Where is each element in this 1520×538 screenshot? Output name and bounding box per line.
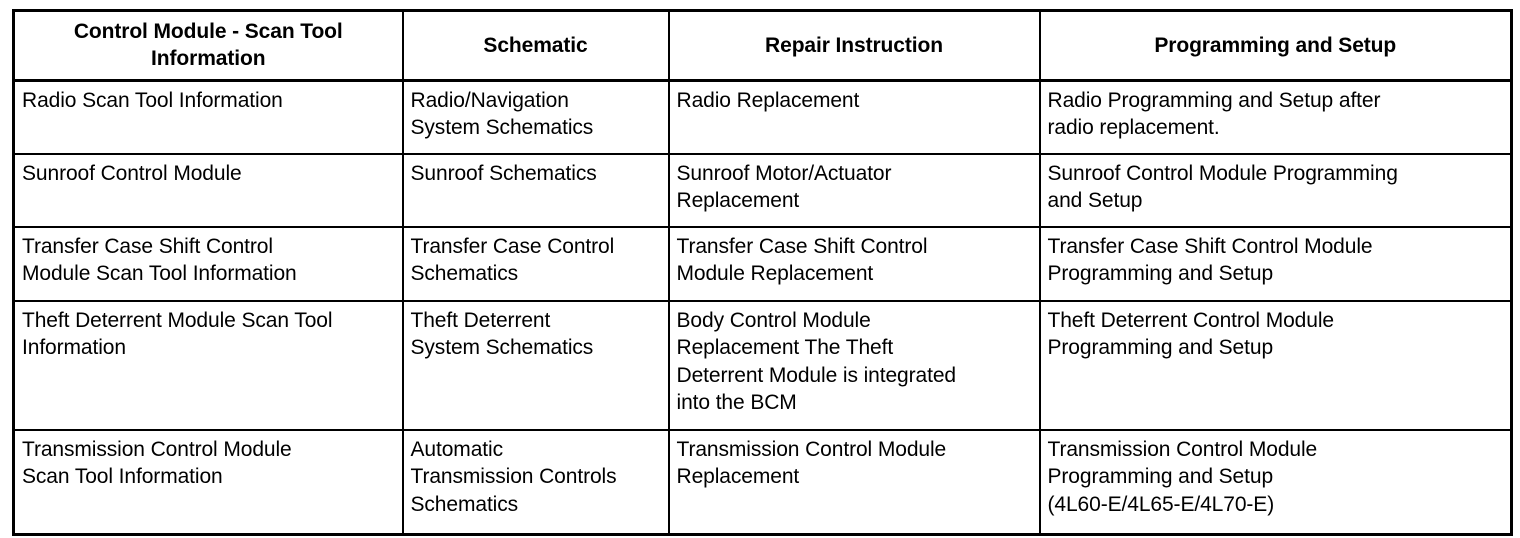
- column-header-scan-tool-information: Control Module - Scan Tool Information: [14, 11, 403, 81]
- cell-text: Theft Deterrent System Schematics: [411, 307, 661, 362]
- cell-text: Radio Replacement: [677, 87, 1032, 114]
- cell-text: Transfer Case Shift Control Module Scan …: [22, 233, 395, 288]
- cell-text: Theft Deterrent Control Module Programmi…: [1048, 307, 1504, 362]
- cell-text: Transfer Case Shift Control Module Progr…: [1048, 233, 1504, 288]
- table-header-row: Control Module - Scan Tool Information S…: [14, 11, 1512, 81]
- cell-text: Transfer Case Shift Control Module Repla…: [677, 233, 1032, 288]
- cell-schematic: Sunroof Schematics: [403, 154, 669, 227]
- cell-scan-tool-information: Sunroof Control Module: [14, 154, 403, 227]
- cell-programming-and-setup: Theft Deterrent Control Module Programmi…: [1040, 301, 1512, 430]
- cell-scan-tool-information: Transmission Control Module Scan Tool In…: [14, 430, 403, 534]
- cell-scan-tool-information: Theft Deterrent Module Scan Tool Informa…: [14, 301, 403, 430]
- table-row: Theft Deterrent Module Scan Tool Informa…: [14, 301, 1512, 430]
- cell-text: Theft Deterrent Module Scan Tool Informa…: [22, 307, 395, 362]
- cell-repair-instruction: Transfer Case Shift Control Module Repla…: [669, 227, 1040, 301]
- table-row: Radio Scan Tool Information Radio/Naviga…: [14, 80, 1512, 154]
- cell-text: Radio/Navigation System Schematics: [411, 87, 661, 142]
- cell-text: Sunroof Schematics: [411, 160, 661, 187]
- column-header-programming-and-setup: Programming and Setup: [1040, 11, 1512, 81]
- cell-scan-tool-information: Radio Scan Tool Information: [14, 80, 403, 154]
- cell-text: Automatic Transmission Controls Schemati…: [411, 436, 661, 518]
- cell-programming-and-setup: Transmission Control Module Programming …: [1040, 430, 1512, 534]
- cell-schematic: Theft Deterrent System Schematics: [403, 301, 669, 430]
- cell-schematic: Automatic Transmission Controls Schemati…: [403, 430, 669, 534]
- cell-text: Transmission Control Module Replacement: [677, 436, 1032, 491]
- column-header-schematic: Schematic: [403, 11, 669, 81]
- cell-text: Transfer Case Control Schematics: [411, 233, 661, 288]
- cell-text: Radio Scan Tool Information: [22, 87, 395, 114]
- cell-repair-instruction: Transmission Control Module Replacement: [669, 430, 1040, 534]
- table-header: Control Module - Scan Tool Information S…: [14, 11, 1512, 81]
- table-row: Sunroof Control Module Sunroof Schematic…: [14, 154, 1512, 227]
- cell-text: Body Control Module Replacement The Thef…: [677, 307, 1032, 416]
- cell-text: Sunroof Motor/Actuator Replacement: [677, 160, 1032, 215]
- cell-scan-tool-information: Transfer Case Shift Control Module Scan …: [14, 227, 403, 301]
- column-header-label: Programming and Setup: [1048, 32, 1504, 59]
- cell-repair-instruction: Body Control Module Replacement The Thef…: [669, 301, 1040, 430]
- cell-schematic: Transfer Case Control Schematics: [403, 227, 669, 301]
- column-header-repair-instruction: Repair Instruction: [669, 11, 1040, 81]
- column-header-label: Repair Instruction: [677, 32, 1032, 59]
- cell-programming-and-setup: Radio Programming and Setup after radio …: [1040, 80, 1512, 154]
- cell-text: Sunroof Control Module Programming and S…: [1048, 160, 1504, 215]
- cell-schematic: Radio/Navigation System Schematics: [403, 80, 669, 154]
- column-header-label: Control Module - Scan Tool Information: [22, 18, 395, 73]
- cell-repair-instruction: Sunroof Motor/Actuator Replacement: [669, 154, 1040, 227]
- control-module-reference-table: Control Module - Scan Tool Information S…: [12, 9, 1513, 536]
- cell-text: Transmission Control Module Scan Tool In…: [22, 436, 395, 491]
- table-row: Transfer Case Shift Control Module Scan …: [14, 227, 1512, 301]
- cell-text: Radio Programming and Setup after radio …: [1048, 87, 1504, 142]
- table-row: Transmission Control Module Scan Tool In…: [14, 430, 1512, 534]
- column-header-label: Schematic: [411, 32, 661, 59]
- cell-repair-instruction: Radio Replacement: [669, 80, 1040, 154]
- cell-programming-and-setup: Transfer Case Shift Control Module Progr…: [1040, 227, 1512, 301]
- cell-programming-and-setup: Sunroof Control Module Programming and S…: [1040, 154, 1512, 227]
- cell-text: Transmission Control Module Programming …: [1048, 436, 1504, 518]
- table-body: Radio Scan Tool Information Radio/Naviga…: [14, 80, 1512, 534]
- reference-table-container: Control Module - Scan Tool Information S…: [0, 0, 1520, 538]
- cell-text: Sunroof Control Module: [22, 160, 395, 187]
